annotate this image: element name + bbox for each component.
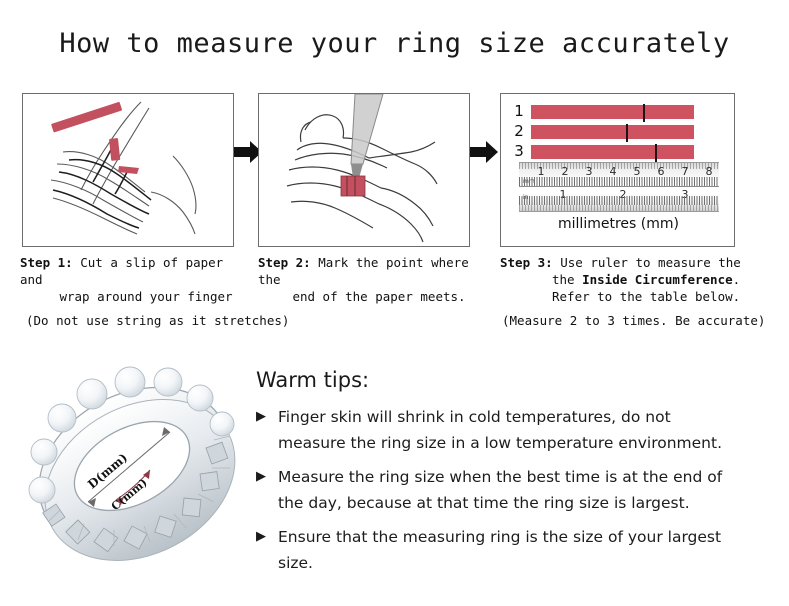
step-3-lead: Step 3:	[500, 255, 553, 270]
step-3-caption: Step 3: Use ruler to measure the the Ins…	[500, 254, 750, 305]
triangle-bullet-icon: ▶	[256, 464, 266, 490]
paper-strip-row: 1	[511, 104, 729, 121]
paper-strip-bar	[531, 125, 694, 139]
step-2-illustration-panel	[258, 93, 470, 247]
step-2-lead: Step 2:	[258, 255, 311, 270]
list-item: ▶ Measure the ring size when the best ti…	[256, 464, 726, 516]
tip-text: Ensure that the measuring ring is the si…	[278, 528, 721, 572]
step-1-caption: Step 1: Cut a slip of paper and wrap aro…	[20, 254, 250, 305]
tip-text: Finger skin will shrink in cold temperat…	[278, 408, 722, 452]
step-1-line2: wrap around your finger	[20, 288, 250, 305]
step-2-caption: Step 2: Mark the point where the end of …	[258, 254, 484, 305]
list-item: ▶ Finger skin will shrink in cold temper…	[256, 404, 726, 456]
ruler-edge-bottom	[519, 205, 719, 211]
paper-strip-bar	[531, 145, 694, 159]
step-3-line2-post: .	[733, 272, 741, 287]
step-2-line2: end of the paper meets.	[258, 288, 484, 305]
ruler-center-line	[519, 186, 719, 187]
millimetres-caption: millimetres (mm)	[501, 216, 735, 232]
tip-text: Measure the ring size when the best time…	[278, 468, 722, 512]
page-title: How to measure your ring size accurately	[0, 28, 789, 59]
step-1-illustration-panel	[22, 93, 234, 247]
list-item: ▶ Ensure that the measuring ring is the …	[256, 524, 726, 576]
strip-number: 2	[511, 122, 527, 140]
inside-circumference-emphasis: Inside Circumference	[582, 272, 733, 287]
ruler-inch-ticks	[519, 196, 719, 205]
warm-tips-heading: Warm tips:	[256, 368, 369, 392]
step-3-line2-pre: the	[552, 272, 582, 287]
paper-strip-bar	[531, 105, 694, 119]
triangle-bullet-icon: ▶	[256, 524, 266, 550]
step-1-note: (Do not use string as it stretches)	[26, 313, 289, 328]
step-3-line3: Refer to the table below.	[500, 288, 750, 305]
paper-strip-row: 2	[511, 124, 729, 141]
ring-dimension-illustration: D(mm) C(mm)	[24, 352, 250, 584]
triangle-bullet-icon: ▶	[256, 404, 266, 430]
step-3-note: (Measure 2 to 3 times. Be accurate)	[502, 313, 765, 328]
step-3-line1: Use ruler to measure the	[553, 255, 741, 270]
warm-tips-list: ▶ Finger skin will shrink in cold temper…	[256, 404, 726, 584]
strip-number: 1	[511, 102, 527, 120]
ruler-cm-ticks	[519, 177, 719, 186]
arrow-step2-to-step3-icon	[470, 139, 498, 165]
strip-number: 3	[511, 142, 527, 160]
eternity-ring-photo-drawing	[24, 352, 250, 584]
strip-mark	[643, 104, 645, 122]
hand-marking-paper-drawing	[259, 94, 470, 247]
strip-mark	[655, 144, 657, 162]
paper-strip-row: 3	[511, 144, 729, 161]
step-1-lead: Step 1:	[20, 255, 73, 270]
step-3-measure-panel: 1 2 3 1 2 3 4 5 6 7 8 mm 1	[500, 93, 735, 247]
hand-with-paper-slip-drawing	[23, 94, 234, 247]
strip-mark	[626, 124, 628, 142]
ruler-graphic: 1 2 3 4 5 6 7 8 mm 1 2 3 in	[519, 162, 719, 212]
